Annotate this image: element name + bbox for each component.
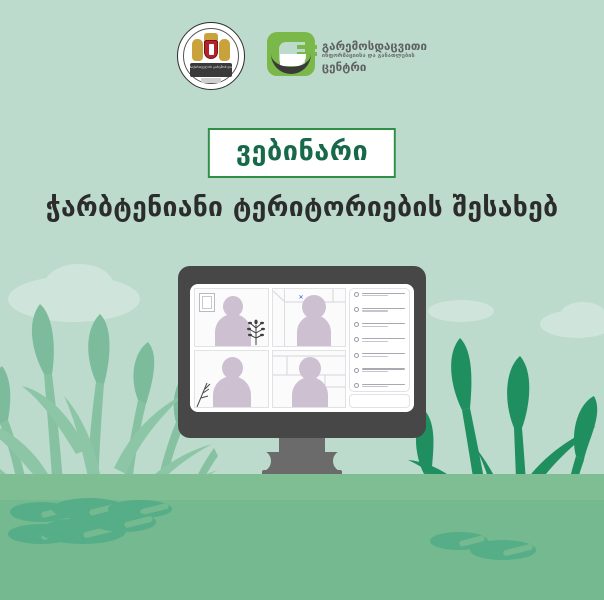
- eiec-logo-line2: ინფორმაციისა და განათლების: [322, 53, 427, 60]
- eiec-logo-text: გარემოსდაცვითი ინფორმაციისა და განათლები…: [322, 40, 427, 73]
- header-logo-row: საქართველოს გარემოს დაცვისა და სოფლის მე…: [0, 22, 604, 90]
- participant-list[interactable]: [349, 288, 410, 392]
- video-tile-participant-2[interactable]: ✕: [272, 288, 347, 347]
- participant-name-lines: [362, 308, 405, 312]
- participant-list-item[interactable]: [354, 307, 405, 312]
- emblem-scroll-text: საქართველოს გარემოს დაცვისა და სოფლის მე…: [190, 63, 232, 69]
- eiec-logo: გარემოსდაცვითი ინფორმაციისა და განათლები…: [267, 32, 427, 80]
- participant-name-lines: [362, 323, 405, 327]
- poster-subtitle: ჭარბტენიანი ტერიტორიების შესახებ: [0, 192, 604, 223]
- participant-list-item[interactable]: [354, 292, 405, 297]
- participant-list-item[interactable]: [354, 368, 405, 373]
- avatar-icon: [354, 307, 359, 312]
- avatar-icon: [354, 383, 359, 388]
- lilypad: [92, 512, 156, 532]
- monitor-stand-neck: [279, 434, 325, 474]
- poster-canvas: ✕: [0, 0, 604, 600]
- desktop-monitor: ✕: [178, 266, 426, 438]
- avatar-icon: [354, 337, 359, 342]
- water-bank: [0, 474, 604, 500]
- panel-footer-bar[interactable]: [349, 394, 410, 408]
- avatar-icon: [354, 368, 359, 373]
- participant-list-item[interactable]: [354, 353, 405, 358]
- participant-list-item[interactable]: [354, 337, 405, 342]
- participant-name-lines: [362, 384, 405, 388]
- avatar-icon: [354, 353, 359, 358]
- emblem-scroll: საქართველოს გარემოს დაცვისა და სოფლის მე…: [190, 63, 232, 77]
- participant-name-lines: [362, 353, 405, 357]
- participant-name-lines: [362, 338, 405, 342]
- video-tile-participant-3[interactable]: [194, 350, 269, 409]
- participant-name-lines: [362, 293, 405, 297]
- webinar-badge: ვებინარი: [208, 128, 396, 178]
- participant-panel[interactable]: [349, 288, 410, 408]
- georgia-national-emblem-icon: საქართველოს გარემოს დაცვისა და სოფლის მე…: [177, 22, 245, 90]
- avatar-icon: [354, 292, 359, 297]
- monitor-stand-cut-left: [249, 450, 271, 472]
- participant-body-icon: [213, 376, 251, 409]
- video-tile-participant-4[interactable]: [272, 350, 347, 409]
- plant-branch-icon: [195, 381, 211, 407]
- participant-name-lines: [362, 368, 405, 372]
- participant-list-item[interactable]: [354, 383, 405, 388]
- video-conference-screen[interactable]: ✕: [190, 284, 414, 412]
- eiec-logo-line1: გარემოსდაცვითი: [322, 40, 427, 52]
- eiec-logo-mark-icon: [267, 32, 315, 80]
- webinar-badge-label: ვებინარი: [236, 137, 368, 167]
- video-tile-grid: ✕: [194, 288, 346, 408]
- lilypad: [470, 540, 536, 560]
- monitor-stand-cut-right: [333, 450, 355, 472]
- framed-picture-icon: [199, 293, 215, 312]
- potted-plant-icon: [246, 319, 266, 345]
- participant-list-item[interactable]: [354, 322, 405, 327]
- avatar-icon: [354, 322, 359, 327]
- eiec-logo-line3: ცენტრი: [322, 61, 427, 73]
- video-tile-participant-1[interactable]: [194, 288, 269, 347]
- participant-body-icon: [292, 377, 328, 409]
- participant-body-icon: [297, 315, 331, 347]
